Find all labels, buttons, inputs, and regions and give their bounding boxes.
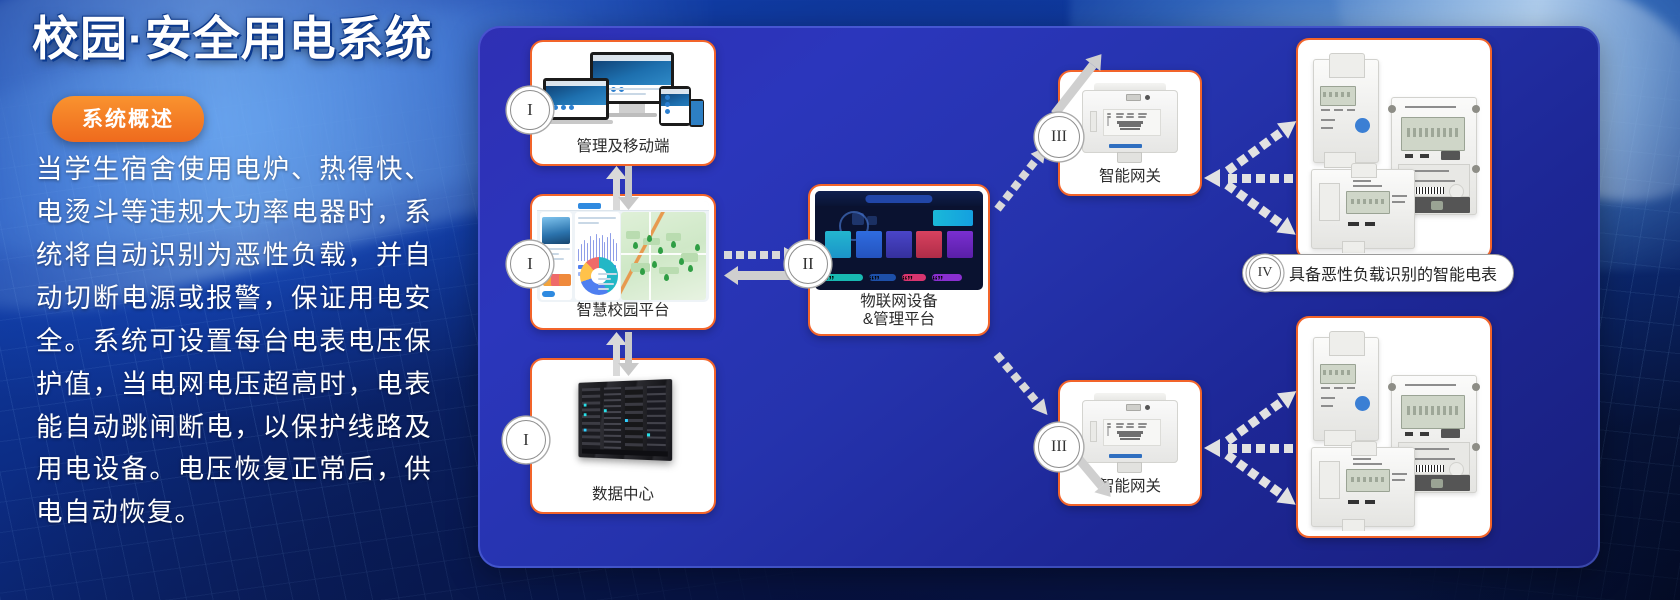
multi-pole-meter-icon	[1311, 169, 1415, 249]
smart-meters-bottom-thumbnail	[1303, 323, 1485, 531]
node-caption: 智能网关	[1060, 478, 1200, 496]
overview-paragraph: 当学生宿舍使用电炉、热得快、电烫斗等违规大功率电器时，系统将自动识别为恶性负载，…	[36, 148, 432, 534]
page-title: 校园·安全用电系统	[32, 14, 462, 65]
badge-roman-ii-iot: II	[788, 244, 828, 284]
badge-roman-i-datacenter: I	[506, 420, 546, 460]
connector-gateway-bottom-meters	[1200, 344, 1326, 544]
smart-meters-top-thumbnail	[1303, 45, 1485, 253]
laptop-icon	[543, 78, 609, 120]
node-data-center[interactable]: 数据中心	[530, 358, 716, 514]
campus-map	[621, 212, 706, 300]
node-caption: 智慧校园平台	[532, 302, 714, 320]
badge-roman-iii-gateway-bottom: III	[1038, 426, 1080, 468]
label-smart-meters-iv: IV 具备恶性负载识别的智能电表	[1242, 254, 1514, 292]
connector-gateway-top-meters	[1200, 74, 1326, 274]
connector-vertical-campus-datacenter	[603, 332, 643, 376]
connector-vertical-management-campus	[603, 166, 643, 210]
node-management-mobile[interactable]: 管理及移动端	[530, 40, 716, 166]
node-caption: 数据中心	[532, 486, 714, 504]
node-caption: 智能网关	[1060, 168, 1200, 186]
node-iot-platform[interactable]: 物联网设备 &管理平台	[808, 184, 990, 336]
node-caption: 管理及移动端	[532, 138, 714, 156]
badge-roman-i-management: I	[510, 90, 550, 130]
diagram-panel: 管理及移动端 I	[478, 26, 1600, 568]
management-mobile-thumbnail	[537, 47, 709, 138]
badge-roman-iii-gateway-top: III	[1038, 116, 1080, 158]
phone-icon	[689, 99, 704, 127]
badge-roman-i-campus: I	[510, 244, 550, 284]
smart-campus-thumbnail	[537, 201, 709, 302]
gateway-top-thumbnail	[1065, 77, 1195, 168]
data-center-thumbnail	[537, 365, 709, 482]
iv-label-text: 具备恶性负载识别的智能电表	[1289, 261, 1497, 285]
left-text-column: 校园·安全用电系统 系统概述 当学生宿舍使用电炉、热得快、电烫斗等违规大功率电器…	[0, 0, 470, 600]
monitor-stand	[619, 104, 645, 113]
multi-pole-meter-icon	[1311, 447, 1415, 527]
iot-screen-header	[865, 195, 932, 203]
badge-roman-iv: IV	[1249, 257, 1281, 289]
laptop-base	[539, 120, 613, 124]
monitor-base	[607, 113, 657, 117]
section-badge-system-overview: 系统概述	[52, 96, 204, 142]
tablet-icon	[659, 86, 691, 126]
node-caption: 物联网设备 &管理平台	[810, 293, 988, 329]
node-caption-line-2: &管理平台	[810, 311, 988, 329]
server-rack-icon	[578, 379, 672, 461]
poster-root: 校园·安全用电系统 系统概述 当学生宿舍使用电炉、热得快、电烫斗等违规大功率电器…	[0, 0, 1680, 600]
node-smart-campus-platform[interactable]: 智慧校园平台	[530, 194, 716, 330]
iot-platform-thumbnail	[815, 191, 983, 290]
node-caption-line-1: 物联网设备	[810, 293, 988, 311]
